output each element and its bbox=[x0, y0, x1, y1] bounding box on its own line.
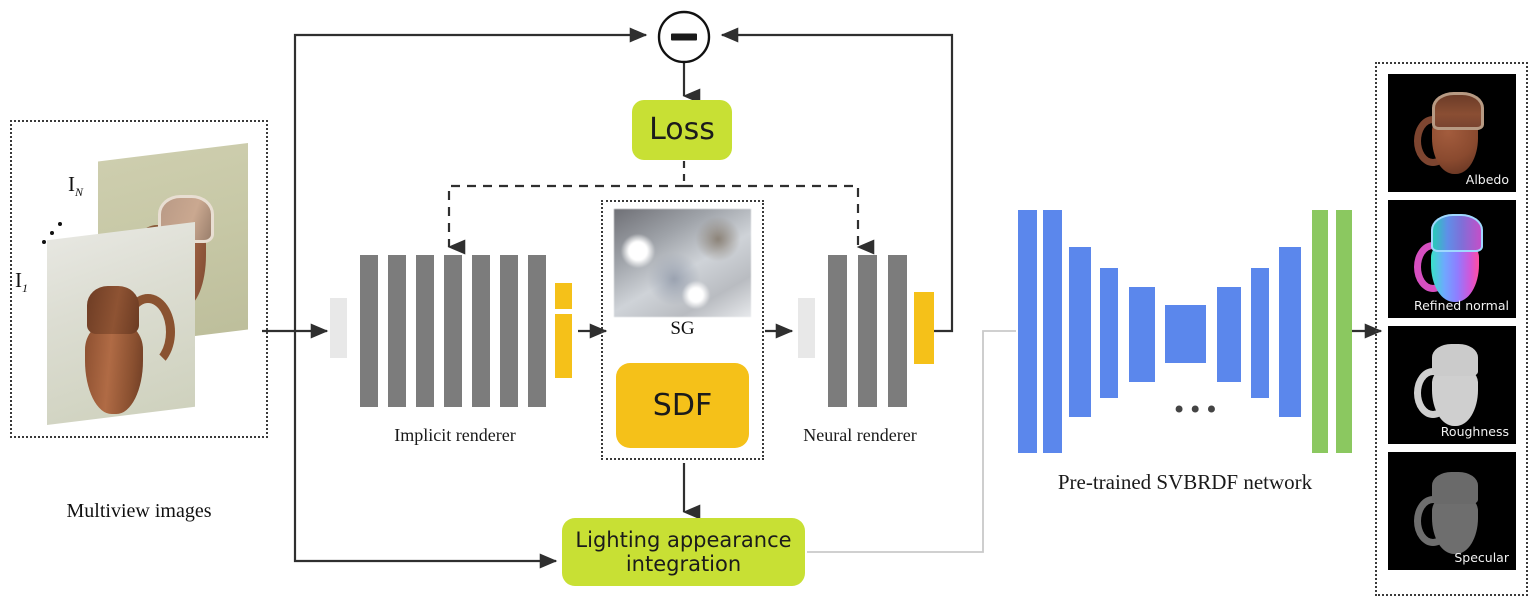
sdf-label: SDF bbox=[616, 363, 749, 448]
implicit-layer-bar bbox=[500, 255, 518, 407]
multiview-caption: Multiview images bbox=[10, 500, 268, 523]
implicit-layer-bar bbox=[360, 255, 378, 407]
output-label: Specular bbox=[1454, 550, 1509, 565]
output-card-specular: Specular bbox=[1388, 452, 1516, 570]
neural-input-bar bbox=[798, 298, 815, 358]
jug-thumbnail-front bbox=[79, 284, 165, 414]
jug-neck-shape bbox=[87, 286, 139, 334]
svbrdf-encoder-bar bbox=[1018, 210, 1037, 453]
svbrdf-encoder-bar bbox=[1100, 268, 1118, 398]
output-card-albedo: Albedo bbox=[1388, 74, 1516, 192]
neural-renderer-caption: Neural renderer bbox=[780, 425, 940, 446]
implicit-output-bar-top bbox=[555, 283, 572, 309]
implicit-output-bar-bottom bbox=[555, 314, 572, 378]
multiview-label-first: I1 bbox=[15, 268, 28, 296]
implicit-renderer-caption: Implicit renderer bbox=[360, 425, 550, 446]
roughness-map-thumbnail-icon bbox=[1412, 340, 1492, 430]
multiview-label-last: IN bbox=[68, 172, 83, 200]
output-card-roughness: Roughness bbox=[1388, 326, 1516, 444]
implicit-layer-bar bbox=[528, 255, 546, 407]
jug-neck-shape bbox=[1432, 344, 1478, 376]
svbrdf-encoder-bar bbox=[1129, 287, 1155, 382]
specular-map-thumbnail-icon bbox=[1412, 468, 1492, 556]
svbrdf-encoder-bar bbox=[1043, 210, 1062, 453]
svbrdf-decoder-bar bbox=[1251, 268, 1269, 398]
jug-body-shape bbox=[85, 322, 143, 414]
loss-block: Loss bbox=[632, 100, 732, 160]
wire-gt-to-minus bbox=[295, 35, 646, 331]
diagram-canvas: IN I1 Multiview images Implicit renderer… bbox=[0, 0, 1536, 604]
jug-neck-shape bbox=[1431, 214, 1483, 252]
output-card-refined-normal: Refined normal bbox=[1388, 200, 1516, 318]
spherical-gaussian-environment-map-icon bbox=[614, 209, 751, 317]
svbrdf-network-caption: Pre-trained SVBRDF network bbox=[1020, 470, 1350, 495]
output-label: Roughness bbox=[1441, 424, 1509, 439]
lai-line1: Lighting appearance bbox=[575, 528, 791, 552]
normal-map-thumbnail-icon bbox=[1412, 212, 1492, 304]
multiview-plane-front bbox=[47, 222, 195, 425]
neural-layer-bar bbox=[828, 255, 847, 407]
implicit-layer-bar bbox=[472, 255, 490, 407]
lighting-appearance-integration-label: Lighting appearanceintegration bbox=[575, 528, 791, 576]
svbrdf-decoder-bar bbox=[1217, 287, 1241, 382]
implicit-layer-bar bbox=[388, 255, 406, 407]
output-label: Albedo bbox=[1466, 172, 1509, 187]
jug-neck-shape bbox=[1432, 92, 1484, 130]
lai-line2: integration bbox=[626, 552, 741, 576]
minus-operator-circle bbox=[659, 12, 709, 62]
implicit-input-bar bbox=[330, 298, 347, 358]
neural-output-bar bbox=[914, 292, 934, 364]
svbrdf-encoder-bar bbox=[1069, 247, 1091, 417]
svbrdf-bottleneck-bar bbox=[1165, 305, 1206, 363]
lighting-appearance-integration-block: Lighting appearanceintegration bbox=[562, 518, 805, 586]
implicit-layer-bar bbox=[416, 255, 434, 407]
albedo-map-thumbnail-icon bbox=[1412, 88, 1492, 176]
sg-label: SG bbox=[614, 318, 751, 340]
svbrdf-decoder-bar bbox=[1279, 247, 1301, 417]
implicit-layer-bar bbox=[444, 255, 462, 407]
svbrdf-ellipsis: ••• bbox=[1172, 396, 1220, 424]
vertical-ellipsis-dots-icon bbox=[40, 222, 66, 248]
svbrdf-head-bar bbox=[1312, 210, 1328, 453]
output-label: Refined normal bbox=[1414, 298, 1509, 313]
loss-label: Loss bbox=[632, 100, 732, 160]
svbrdf-head-bar bbox=[1336, 210, 1352, 453]
sdf-block: SDF bbox=[616, 363, 749, 448]
jug-neck-shape bbox=[1432, 472, 1478, 504]
neural-layer-bar bbox=[858, 255, 877, 407]
minus-icon bbox=[671, 34, 697, 41]
neural-layer-bar bbox=[888, 255, 907, 407]
